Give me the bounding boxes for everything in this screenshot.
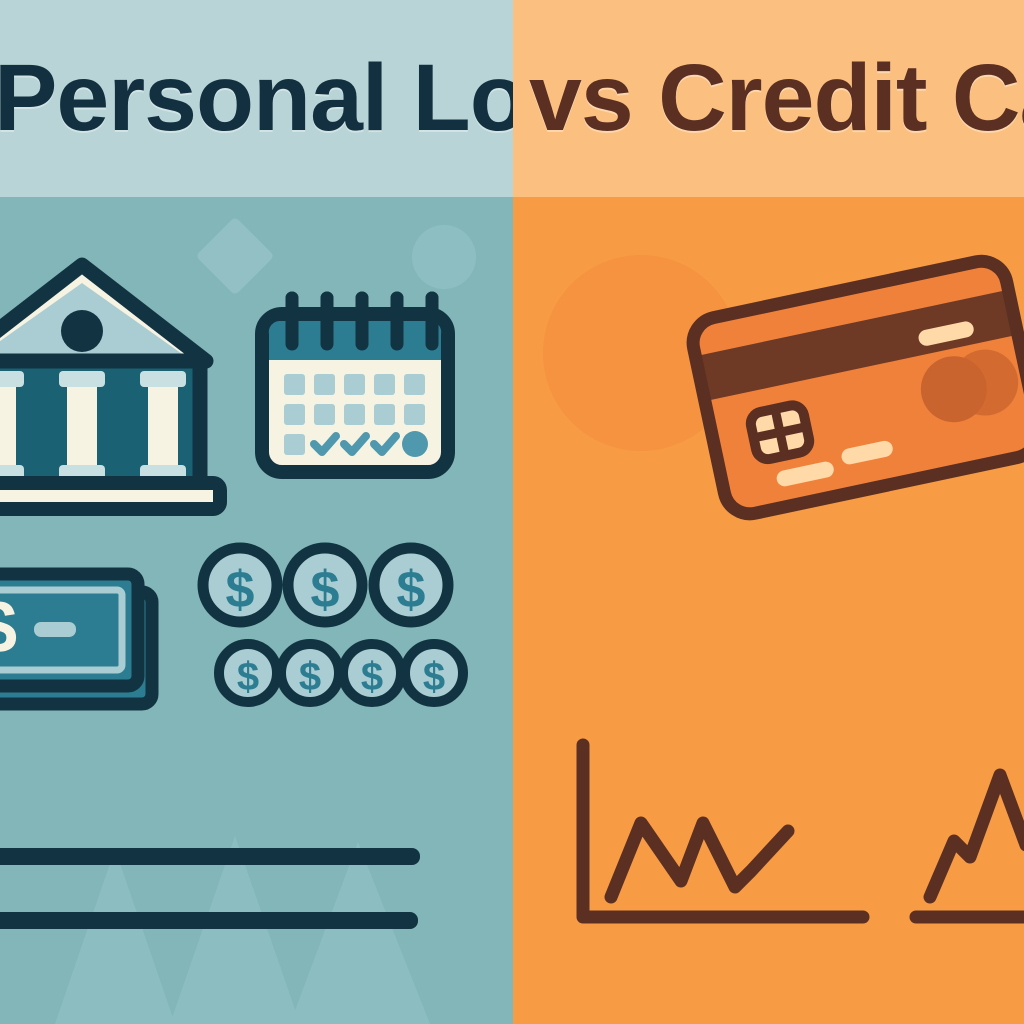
comparison-graphic: $ $ $ $ $ $ $ $ bbox=[0, 0, 1024, 1024]
banknote-icon: $ bbox=[0, 556, 188, 716]
calendar-icon bbox=[252, 286, 458, 482]
line-chart-right bbox=[908, 737, 1024, 937]
svg-text:$: $ bbox=[361, 655, 383, 699]
coins-group-icon: $ $ $ $ $ $ $ bbox=[200, 545, 462, 711]
svg-text:$: $ bbox=[299, 655, 321, 699]
svg-text:$: $ bbox=[0, 585, 17, 670]
circle-decoration-left bbox=[412, 225, 476, 289]
coin-small: $ $ $ $ bbox=[219, 644, 463, 702]
svg-text:$: $ bbox=[237, 655, 259, 699]
left-title-area: Personal Loan bbox=[0, 0, 513, 197]
left-panel-personal-loan: $ $ $ $ $ $ $ $ bbox=[0, 0, 513, 1024]
svg-text:$: $ bbox=[397, 561, 426, 619]
line-chart-left bbox=[573, 737, 873, 937]
coin-large: $ $ $ bbox=[203, 548, 448, 622]
divider-bars bbox=[0, 840, 430, 950]
bank-building-icon bbox=[0, 243, 232, 518]
right-panel-credit-card: $ bbox=[513, 0, 1024, 1024]
svg-text:$: $ bbox=[226, 561, 255, 619]
page-title-left: Personal Loan bbox=[0, 51, 513, 146]
credit-card-icon bbox=[683, 240, 1024, 530]
svg-text:$: $ bbox=[311, 561, 340, 619]
svg-text:$: $ bbox=[423, 655, 445, 699]
right-title-area: vs Credit Card bbox=[513, 0, 1024, 197]
page-title-right: vs Credit Card bbox=[529, 51, 1024, 146]
